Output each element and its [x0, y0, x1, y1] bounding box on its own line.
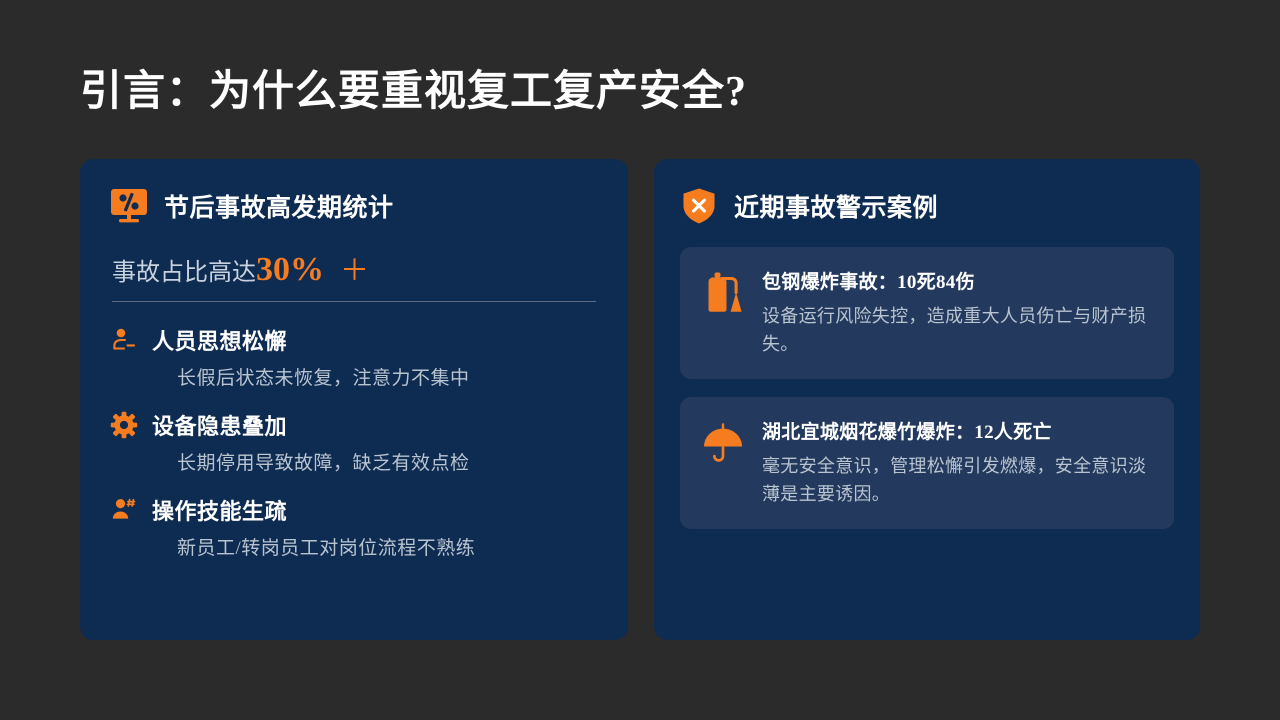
- slide-root: 引言：为什么要重视复工复产安全? 节后事故高发期统计 事: [0, 0, 1280, 720]
- reason-title: 操作技能生疏: [152, 494, 475, 526]
- statistic-value: 30%: [256, 253, 324, 287]
- list-item-body: 包钢爆炸事故：10死84伤 设备运行风险失控，造成重大人员伤亡与财产损失。: [762, 267, 1152, 359]
- statistic-prefix: 事故占比高达: [112, 252, 256, 287]
- case-description: 设备运行风险失控，造成重大人员伤亡与财产损失。: [762, 303, 1152, 359]
- list-item-body: 人员思想松懈 长假后状态未恢复，注意力不集中: [152, 324, 470, 390]
- cases-card-title: 近期事故警示案例: [734, 188, 938, 224]
- reason-description: 长假后状态未恢复，注意力不集中: [177, 363, 470, 390]
- cases-card-header: 近期事故警示案例: [680, 187, 1174, 225]
- umbrella-icon: [700, 419, 746, 465]
- cases-card: 近期事故警示案例 包钢爆炸事故：10死84伤 设备运行风险失控，: [654, 159, 1200, 640]
- statistics-card-header: 节后事故高发期统计: [110, 187, 598, 225]
- list-item: 湖北宜城烟花爆竹爆炸：12人死亡 毫无安全意识，管理松懈引发燃爆，安全意识淡薄是…: [680, 397, 1174, 529]
- list-item: 设备隐患叠加 长期停用导致故障，缺乏有效点检: [110, 409, 598, 475]
- cases-list: 包钢爆炸事故：10死84伤 设备运行风险失控，造成重大人员伤亡与财产损失。 湖北…: [680, 247, 1174, 529]
- page-title: 引言：为什么要重视复工复产安全?: [80, 57, 747, 118]
- list-item: 人员思想松懈 长假后状态未恢复，注意力不集中: [110, 324, 598, 390]
- case-title: 湖北宜城烟花爆竹爆炸：12人死亡: [762, 417, 1152, 444]
- gear-icon: [110, 411, 138, 439]
- reasons-list: 人员思想松懈 长假后状态未恢复，注意力不集中: [110, 324, 598, 560]
- list-item: 包钢爆炸事故：10死84伤 设备运行风险失控，造成重大人员伤亡与财产损失。: [680, 247, 1174, 379]
- reason-title: 人员思想松懈: [152, 324, 470, 356]
- list-item: 操作技能生疏 新员工/转岗员工对岗位流程不熟练: [110, 494, 598, 560]
- statistic-suffix: ＋: [340, 247, 369, 289]
- list-item-body: 操作技能生疏 新员工/转岗员工对岗位流程不熟练: [152, 494, 475, 560]
- cards-container: 节后事故高发期统计 事故占比高达 30% ＋: [80, 159, 1200, 640]
- statistic-highlight: 事故占比高达 30% ＋: [112, 247, 598, 289]
- statistics-card: 节后事故高发期统计 事故占比高达 30% ＋: [80, 159, 628, 640]
- user-tag-icon: [110, 496, 138, 524]
- list-item-body: 设备隐患叠加 长期停用导致故障，缺乏有效点检: [152, 409, 470, 475]
- user-minus-icon: [110, 326, 138, 354]
- case-title: 包钢爆炸事故：10死84伤: [762, 267, 1152, 294]
- percent-monitor-icon: [110, 187, 148, 225]
- fire-extinguisher-icon: [700, 269, 746, 315]
- reason-title: 设备隐患叠加: [152, 409, 470, 441]
- reason-description: 新员工/转岗员工对岗位流程不熟练: [177, 533, 475, 560]
- section-divider: [112, 301, 596, 302]
- reason-description: 长期停用导致故障，缺乏有效点检: [177, 448, 470, 475]
- shield-x-icon: [680, 187, 718, 225]
- list-item-body: 湖北宜城烟花爆竹爆炸：12人死亡 毫无安全意识，管理松懈引发燃爆，安全意识淡薄是…: [762, 417, 1152, 509]
- case-description: 毫无安全意识，管理松懈引发燃爆，安全意识淡薄是主要诱因。: [762, 453, 1152, 509]
- statistics-card-title: 节后事故高发期统计: [164, 188, 394, 224]
